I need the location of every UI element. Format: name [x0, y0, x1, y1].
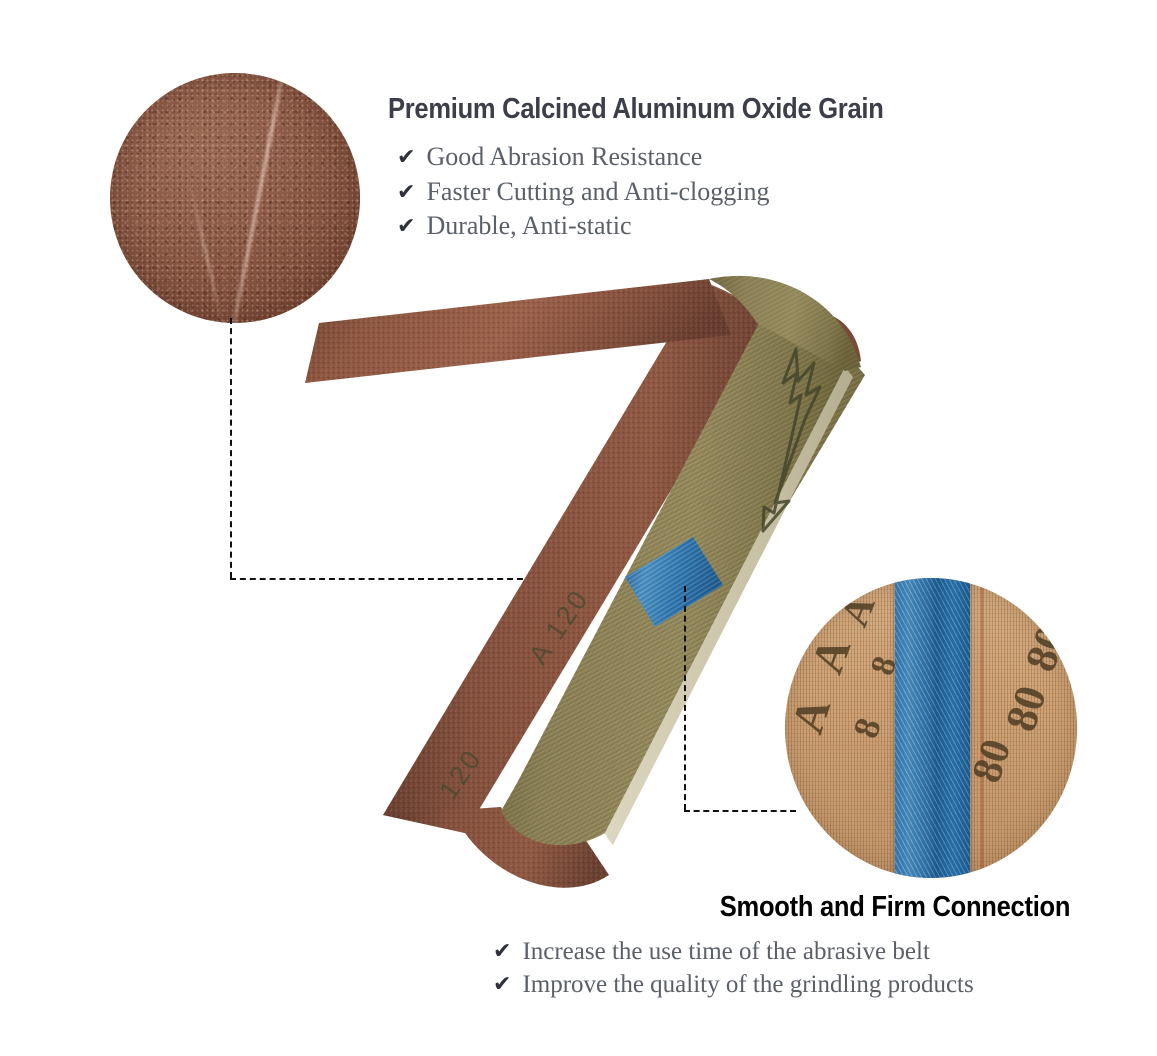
belt-vector: [305, 255, 865, 895]
list-item: ✔ Improve the quality of the grindling p…: [493, 968, 974, 1001]
top-leader-vertical-segment: [230, 318, 232, 578]
sanding-belt-illustration: A 120 120: [305, 255, 865, 895]
tape-weave-texture: [895, 578, 971, 878]
list-item-label: Increase the use time of the abrasive be…: [522, 935, 929, 968]
infographic-canvas: Premium Calcined Aluminum Oxide Grain ✔ …: [0, 0, 1157, 1056]
list-item-label: Durable, Anti-static: [426, 209, 631, 244]
list-item: ✔ Durable, Anti-static: [397, 209, 769, 244]
splice-joint-closeup-image: A A A 8 8 80 80 80: [785, 578, 1077, 878]
bottom-leader-horizontal-segment: [684, 810, 796, 812]
check-icon: ✔: [493, 970, 511, 999]
top-callout-bullet-list: ✔ Good Abrasion Resistance ✔ Faster Cutt…: [397, 140, 769, 244]
bottom-callout-title: Smooth and Firm Connection: [720, 891, 1070, 924]
check-icon: ✔: [397, 143, 415, 172]
top-callout-title: Premium Calcined Aluminum Oxide Grain: [388, 93, 884, 126]
list-item: ✔ Good Abrasion Resistance: [397, 140, 769, 175]
bottom-leader-vertical-segment: [684, 586, 686, 810]
list-item-label: Good Abrasion Resistance: [426, 140, 702, 175]
list-item-label: Improve the quality of the grindling pro…: [522, 968, 973, 1001]
list-item-label: Faster Cutting and Anti-clogging: [426, 175, 769, 210]
red-guide-line: [981, 584, 983, 872]
check-icon: ✔: [397, 212, 415, 241]
list-item: ✔ Increase the use time of the abrasive …: [493, 935, 974, 968]
check-icon: ✔: [493, 937, 511, 966]
bottom-callout-bullet-list: ✔ Increase the use time of the abrasive …: [493, 935, 974, 1002]
blue-splice-tape: [895, 578, 971, 878]
list-item: ✔ Faster Cutting and Anti-clogging: [397, 175, 769, 210]
check-icon: ✔: [397, 178, 415, 207]
